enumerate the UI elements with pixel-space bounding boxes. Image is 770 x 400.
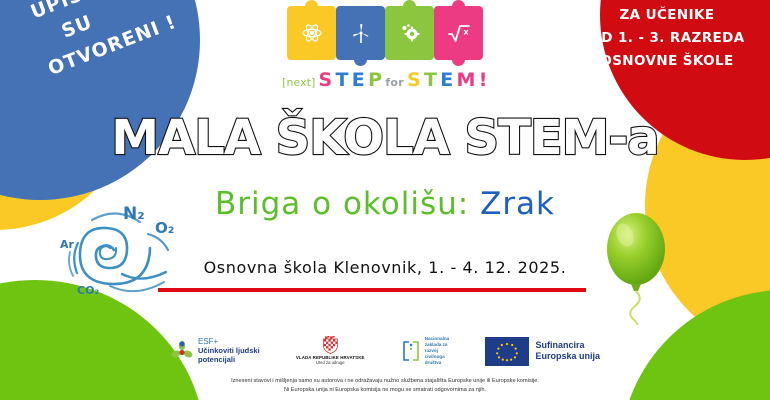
- windmill-icon: [349, 21, 373, 45]
- wordmark-for: for: [385, 76, 404, 89]
- green-balloon-illustration: [598, 205, 678, 325]
- wordmark-m2: M: [457, 69, 476, 91]
- esf-line2: potencijali: [198, 356, 260, 365]
- sqrt-icon: x: [446, 21, 472, 45]
- logo-national-foundation: Nacionalna zaklada za razvoj civilnoga d…: [401, 336, 450, 366]
- wordmark-next: [next]: [282, 77, 315, 89]
- gas-label-oxygen: O₂: [155, 219, 174, 237]
- gas-label-argon: Ar: [60, 238, 74, 251]
- logo-wordmark: [next] S T E P for S T E M !: [282, 69, 487, 91]
- zaklada-text-block: Nacionalna zaklada za razvoj civilnoga d…: [425, 336, 450, 366]
- eu-line2: Europska unija: [535, 351, 600, 362]
- wind-swirl-icon: [52, 198, 182, 310]
- footer-logo-row: ESF+ Učinkoviti ljudski potencijali: [170, 333, 600, 369]
- disclaimer-line1: Izneseni stavovi i mišljenja samo su aut…: [0, 377, 770, 386]
- puzzle-piece-technology: [336, 6, 385, 60]
- puzzle-piece-engineering: [385, 6, 434, 60]
- puzzle-pieces-row: x: [287, 2, 483, 64]
- svg-text:x: x: [463, 28, 469, 37]
- zaklada-line5: društva: [425, 360, 450, 366]
- vlada-text-block: VLADA REPUBLIKE HRVATSKE Ured za udruge: [296, 355, 365, 365]
- gas-label-nitrogen: N₂: [123, 204, 145, 224]
- esf-flower-icon: [170, 339, 194, 363]
- logo-european-union: Sufinancira Europska unija: [485, 337, 600, 366]
- wordmark-s2: S: [407, 69, 421, 91]
- croatia-coat-of-arms-icon: [322, 336, 339, 354]
- logo-croatian-government: VLADA REPUBLIKE HRVATSKE Ured za udruge: [296, 336, 365, 365]
- eu-text-block: Sufinancira Europska unija: [535, 340, 600, 362]
- gas-label-carbon-dioxide: CO₂: [77, 284, 99, 297]
- wordmark-e2: E: [440, 69, 453, 91]
- wordmark-t1: T: [336, 69, 349, 91]
- wordmark-e1: E: [352, 69, 365, 91]
- esf-text-block: ESF+ Učinkoviti ljudski potencijali: [198, 337, 260, 364]
- next-step-for-stem-logo: x [next] S T E P for S T E M !: [0, 2, 770, 91]
- wordmark-exclamation: !: [479, 69, 488, 91]
- page-title: MALA ŠKOLA STEM-a: [0, 110, 770, 166]
- wordmark-t2: T: [424, 69, 437, 91]
- vlada-line2: Ured za udruge: [296, 361, 365, 366]
- eu-line1: Sufinancira: [535, 340, 600, 351]
- wordmark-p1: P: [368, 69, 382, 91]
- eu-flag-icon: [485, 337, 529, 366]
- balloon-icon: [598, 205, 678, 325]
- disclaimer-line2: Ni Europska unija ni Europska komisija n…: [0, 386, 770, 395]
- puzzle-piece-science: [287, 6, 336, 60]
- funding-disclaimer: Izneseni stavovi i mišljenja samo su aut…: [0, 377, 770, 394]
- gears-icon: [398, 21, 422, 45]
- red-divider-rule: [158, 288, 586, 292]
- bracket-icon: [401, 340, 421, 362]
- subtitle-focus: Zrak: [480, 186, 555, 222]
- atom-icon: [300, 21, 324, 45]
- subtitle-topic: Briga o okolišu:: [215, 186, 469, 222]
- logo-esf-plus: ESF+ Učinkoviti ljudski potencijali: [170, 337, 260, 364]
- wordmark-s1: S: [319, 69, 333, 91]
- puzzle-piece-mathematics: x: [434, 6, 483, 60]
- poster-canvas: UPISI SU OTVORENI ! ZA UČENIKE OD 1. - 3…: [0, 0, 770, 400]
- air-swirl-illustration: N₂ O₂ Ar CO₂: [52, 198, 182, 310]
